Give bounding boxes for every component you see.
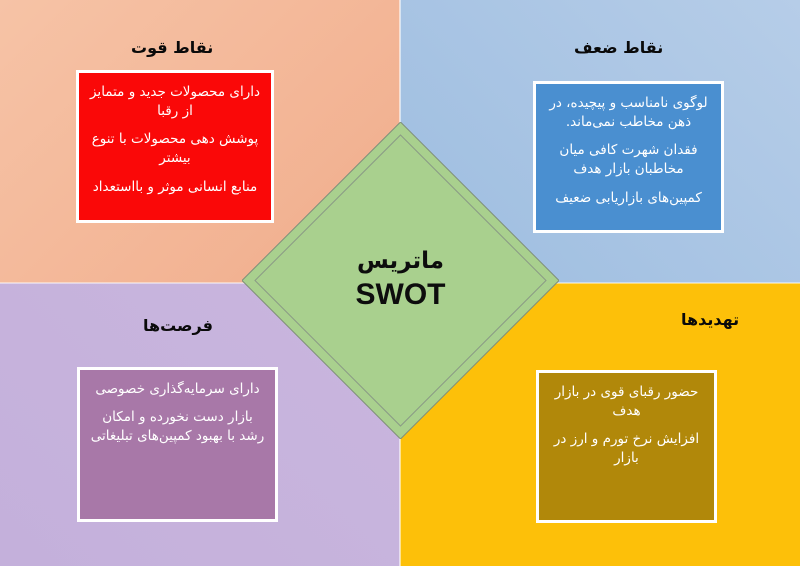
center-diamond: ماتریس SWOT (242, 122, 559, 439)
opportunities-item: بازار دست نخورده و امکان رشد با بهبود کم… (88, 408, 267, 446)
threats-item: حضور رقبای قوی در بازار هدف (547, 383, 706, 421)
swot-matrix-slide: ماتریس SWOT نقاط قوت نقاط ضعف فرصت‌ها ته… (0, 0, 800, 566)
heading-threats: تهدیدها (681, 310, 739, 329)
weaknesses-item: لوگوی نامناسب و پیچیده، در ذهن مخاطب نمی… (544, 94, 713, 132)
heading-weaknesses: نقاط ضعف (574, 38, 663, 57)
content-box-opportunities: دارای سرمایه‌گذاری خصوصی بازار دست نخورد… (77, 367, 278, 522)
strengths-item: پوشش دهی محصولات با تنوع بیشتر (87, 130, 263, 168)
threats-item: افزایش نرخ تورم و ارز در بازار (547, 430, 706, 468)
opportunities-item: دارای سرمایه‌گذاری خصوصی (88, 380, 267, 399)
weaknesses-item: کمپین‌های بازاریابی ضعیف (544, 189, 713, 208)
content-box-threats: حضور رقبای قوی در بازار هدف افزایش نرخ ت… (536, 370, 717, 523)
content-box-weaknesses: لوگوی نامناسب و پیچیده، در ذهن مخاطب نمی… (533, 81, 724, 233)
weaknesses-item: فقدان شهرت کافی میان مخاطبان بازار هدف (544, 141, 713, 179)
heading-opportunities: فرصت‌ها (143, 316, 213, 335)
heading-strengths: نقاط قوت (131, 38, 213, 57)
content-box-strengths: دارای محصولات جدید و متمایز از رقبا پوشش… (76, 70, 274, 223)
diamond-shape (242, 122, 559, 439)
strengths-item: دارای محصولات جدید و متمایز از رقبا (87, 83, 263, 121)
strengths-item: منابع انسانی موثر و بااستعداد (87, 178, 263, 197)
